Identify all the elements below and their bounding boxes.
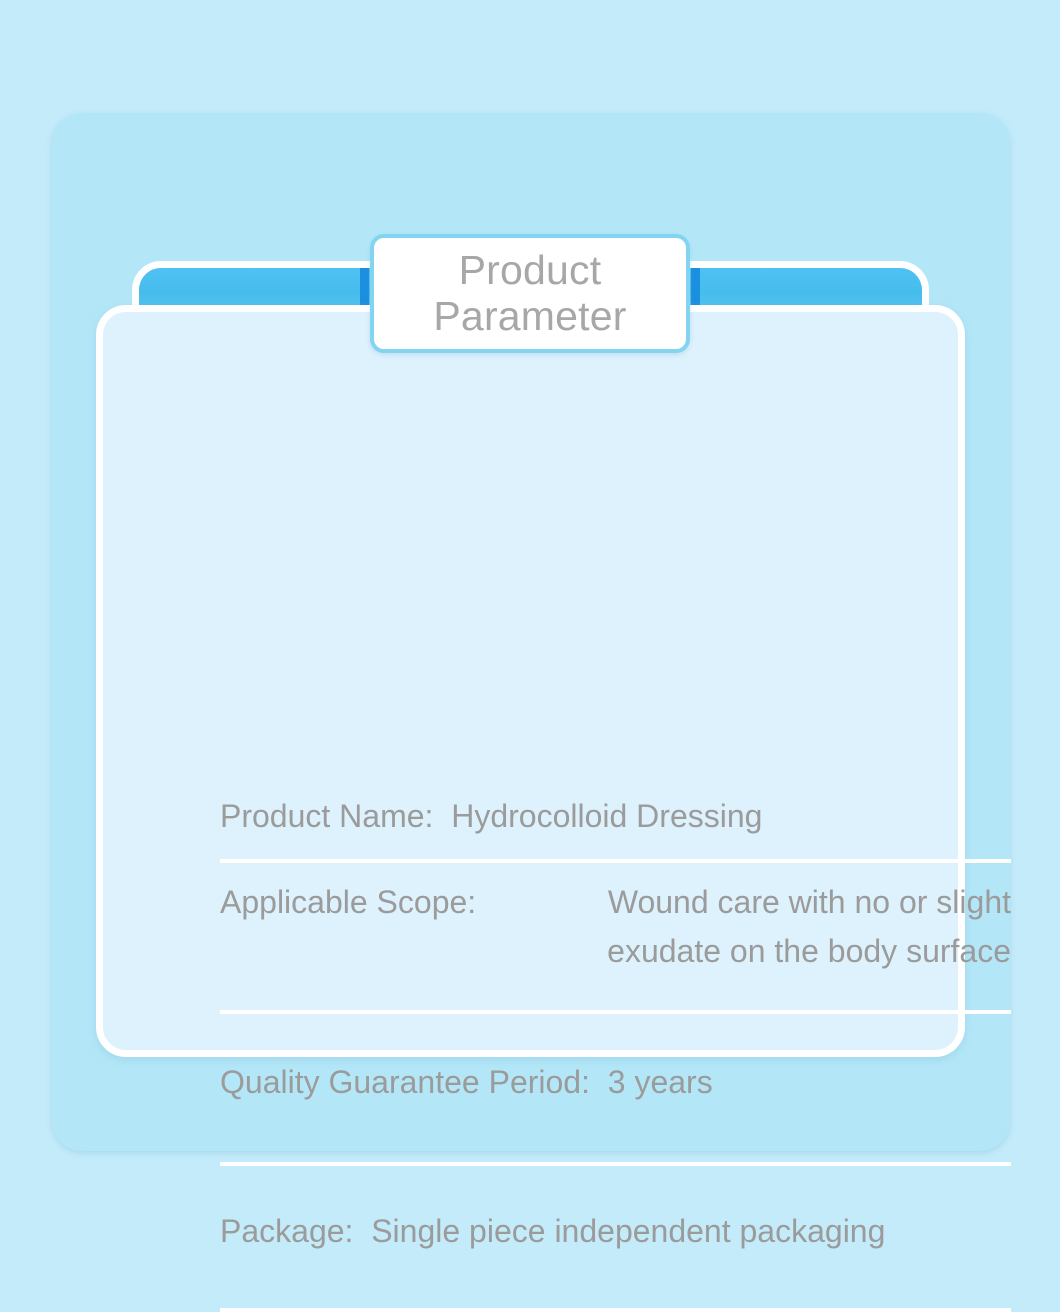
- parameter-value-package: Single piece independent packaging: [371, 1215, 1011, 1247]
- parameter-label-product-name: Product Name:: [220, 800, 451, 832]
- parameter-value-product-name: Hydrocolloid Dressing: [451, 800, 1011, 832]
- parameter-label-package: Package:: [220, 1215, 371, 1247]
- parameter-value-applicable-scope: Wound care with no or slight exudate on …: [494, 878, 1011, 975]
- product-parameter-title-tab: Product Parameter: [370, 234, 690, 353]
- parameter-value-quality-guarantee-period: 3 years: [608, 1066, 1011, 1098]
- product-parameter-card: Product Name: Hydrocolloid Dressing Appl…: [96, 305, 965, 1057]
- parameter-row-product-name: Product Name: Hydrocolloid Dressing: [220, 786, 1011, 863]
- parameter-label-applicable-scope: Applicable Scope:: [220, 878, 494, 927]
- parameter-label-quality-guarantee-period: Quality Guarantee Period:: [220, 1066, 608, 1098]
- parameter-row-package: Package: Single piece independent packag…: [220, 1166, 1011, 1312]
- parameter-list: Product Name: Hydrocolloid Dressing Appl…: [220, 786, 1011, 1312]
- parameter-row-applicable-scope: Applicable Scope: Wound care with no or …: [220, 863, 1011, 1014]
- page-title: Product Parameter: [433, 248, 626, 340]
- parameter-row-quality-guarantee-period: Quality Guarantee Period: 3 years: [220, 1014, 1011, 1166]
